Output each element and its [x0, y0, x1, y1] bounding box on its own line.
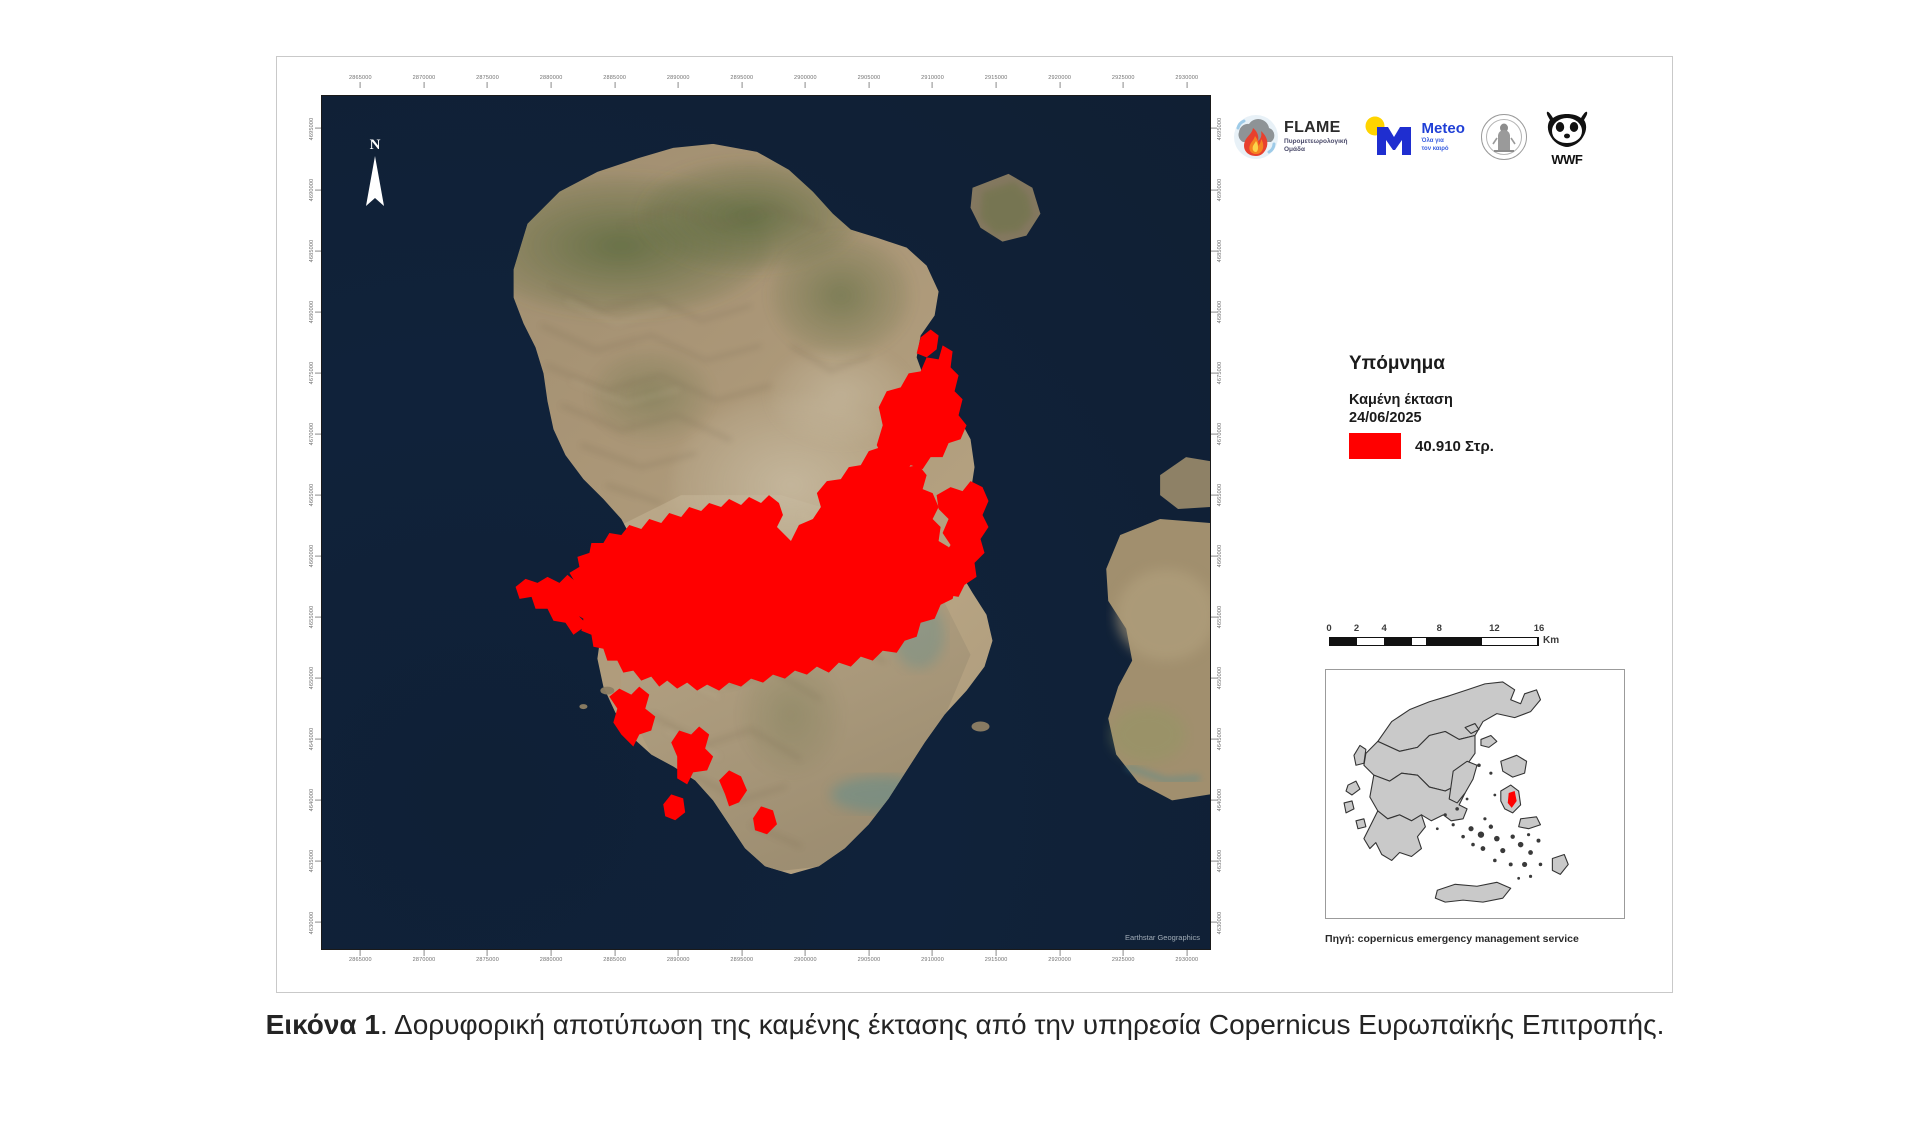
x-tick: 2900000: [794, 950, 817, 963]
x-tick: 2900000: [794, 75, 817, 88]
x-tick: 2905000: [858, 75, 881, 88]
x-tick: 2915000: [985, 75, 1008, 88]
x-tick: 2885000: [603, 75, 626, 88]
flame-sub-line1: Πυρομετεωρολογική: [1284, 139, 1348, 146]
y-tick: 4680000: [309, 300, 321, 323]
figure-panel: 2865000287000028750002880000288500028900…: [276, 56, 1673, 993]
logo-wwf: WWF: [1543, 111, 1591, 163]
scale-bar-tick: 8: [1437, 623, 1442, 634]
north-arrow: N: [358, 138, 392, 210]
x-tick: 2895000: [730, 75, 753, 88]
map-y-axis-left: 4695000469000046850004680000467500046700…: [301, 95, 321, 950]
scale-bar: 02481216 Km: [1329, 623, 1539, 646]
academy-seal-icon: [1481, 114, 1527, 160]
scale-bar-labels: 02481216: [1329, 623, 1539, 635]
scale-bar-tick: 4: [1381, 623, 1386, 634]
x-tick: 2890000: [667, 950, 690, 963]
x-tick: 2870000: [413, 950, 436, 963]
legend-item-label-line1: Καμένη έκταση: [1349, 391, 1629, 409]
figure-caption-label: Εικόνα 1: [266, 1009, 380, 1040]
y-tick: 4690000: [309, 178, 321, 201]
scale-bar-tick: 16: [1534, 623, 1545, 634]
logo-meteo: Meteo Όλα για τον καιρό: [1364, 115, 1465, 159]
meteo-text-block: Meteo Όλα για τον καιρό: [1422, 121, 1465, 153]
x-tick: 2920000: [1048, 950, 1071, 963]
island-imagery: [322, 96, 1210, 949]
y-tick: 4640000: [309, 789, 321, 812]
flame-title: FLAME: [1284, 120, 1348, 137]
x-tick: 2920000: [1048, 75, 1071, 88]
scale-bar-tick: 12: [1489, 623, 1500, 634]
y-tick: 4695000: [309, 117, 321, 140]
map-side-panel: FLAME Πυρομετεωρολογική Ομάδα Meteo: [1217, 77, 1657, 977]
inset-locator-map[interactable]: [1325, 669, 1625, 919]
legend-item-row: 40.910 Στρ.: [1349, 433, 1629, 459]
map-attribution: Earthstar Geographics: [1125, 933, 1200, 942]
logo-flame: FLAME Πυρομετεωρολογική Ομάδα: [1233, 114, 1348, 160]
scale-bar-tick: 2: [1354, 623, 1359, 634]
x-tick: 2910000: [921, 75, 944, 88]
north-arrow-label: N: [358, 138, 392, 153]
flame-sub-line2: Ομάδα: [1284, 147, 1348, 154]
map-canvas: N Earthstar Geographics: [322, 96, 1210, 949]
meteo-m-icon: [1364, 115, 1418, 159]
map-x-axis-top: 2865000287000028750002880000288500028900…: [321, 75, 1211, 95]
x-tick: 2890000: [667, 75, 690, 88]
x-tick: 2930000: [1175, 950, 1198, 963]
meteo-sub-line1: Όλα για: [1422, 138, 1465, 145]
flame-cloud-icon: [1233, 114, 1279, 160]
x-tick: 2915000: [985, 950, 1008, 963]
x-tick: 2880000: [540, 950, 563, 963]
x-tick: 2875000: [476, 950, 499, 963]
y-tick: 4645000: [309, 728, 321, 751]
x-tick: 2910000: [921, 950, 944, 963]
x-tick: 2875000: [476, 75, 499, 88]
figure-page: 2865000287000028750002880000288500028900…: [0, 0, 1920, 1137]
north-arrow-icon: [364, 156, 386, 208]
legend-item-label-line2: 24/06/2025: [1349, 409, 1629, 427]
x-tick: 2925000: [1112, 950, 1135, 963]
map-x-axis-bottom: 2865000287000028750002880000288500028900…: [321, 950, 1211, 970]
x-tick: 2885000: [603, 950, 626, 963]
scale-bar-unit: Km: [1543, 635, 1559, 646]
scale-bar-tick: 0: [1326, 623, 1331, 634]
flame-text-block: FLAME Πυρομετεωρολογική Ομάδα: [1284, 120, 1348, 154]
satellite-map[interactable]: N Earthstar Geographics: [321, 95, 1211, 950]
legend-swatch-burned-area: [1349, 433, 1401, 459]
legend: Υπόμνημα Καμένη έκταση 24/06/2025 40.910…: [1349, 353, 1629, 459]
y-tick: 4650000: [309, 667, 321, 690]
y-tick: 4670000: [309, 423, 321, 446]
y-tick: 4655000: [309, 606, 321, 629]
figure-caption-text: . Δορυφορική αποτύπωση της καμένης έκτασ…: [380, 1009, 1664, 1040]
y-tick: 4635000: [309, 850, 321, 873]
inset-source-label: Πηγή: copernicus emergency management se…: [1325, 933, 1655, 945]
meteo-sub-line2: τον καιρό: [1422, 146, 1465, 153]
meteo-title: Meteo: [1422, 121, 1465, 137]
figure-caption: Εικόνα 1. Δορυφορική αποτύπωση της καμέν…: [100, 1005, 1830, 1046]
wwf-title: WWF: [1543, 153, 1591, 166]
logo-row: FLAME Πυρομετεωρολογική Ομάδα Meteo: [1233, 99, 1653, 175]
x-tick: 2865000: [349, 75, 372, 88]
x-tick: 2930000: [1175, 75, 1198, 88]
legend-value: 40.910 Στρ.: [1415, 438, 1494, 455]
x-tick: 2895000: [730, 950, 753, 963]
y-tick: 4660000: [309, 545, 321, 568]
x-tick: 2865000: [349, 950, 372, 963]
x-tick: 2870000: [413, 75, 436, 88]
y-tick: 4665000: [309, 484, 321, 507]
x-tick: 2925000: [1112, 75, 1135, 88]
y-tick: 4630000: [309, 911, 321, 934]
scale-bar-segments: [1329, 637, 1539, 646]
academy-seal-inner: [1486, 119, 1522, 155]
y-tick: 4685000: [309, 239, 321, 262]
panda-icon: [1545, 111, 1589, 147]
x-tick: 2880000: [540, 75, 563, 88]
legend-title: Υπόμνημα: [1349, 353, 1629, 375]
x-tick: 2905000: [858, 950, 881, 963]
y-tick: 4675000: [309, 361, 321, 384]
